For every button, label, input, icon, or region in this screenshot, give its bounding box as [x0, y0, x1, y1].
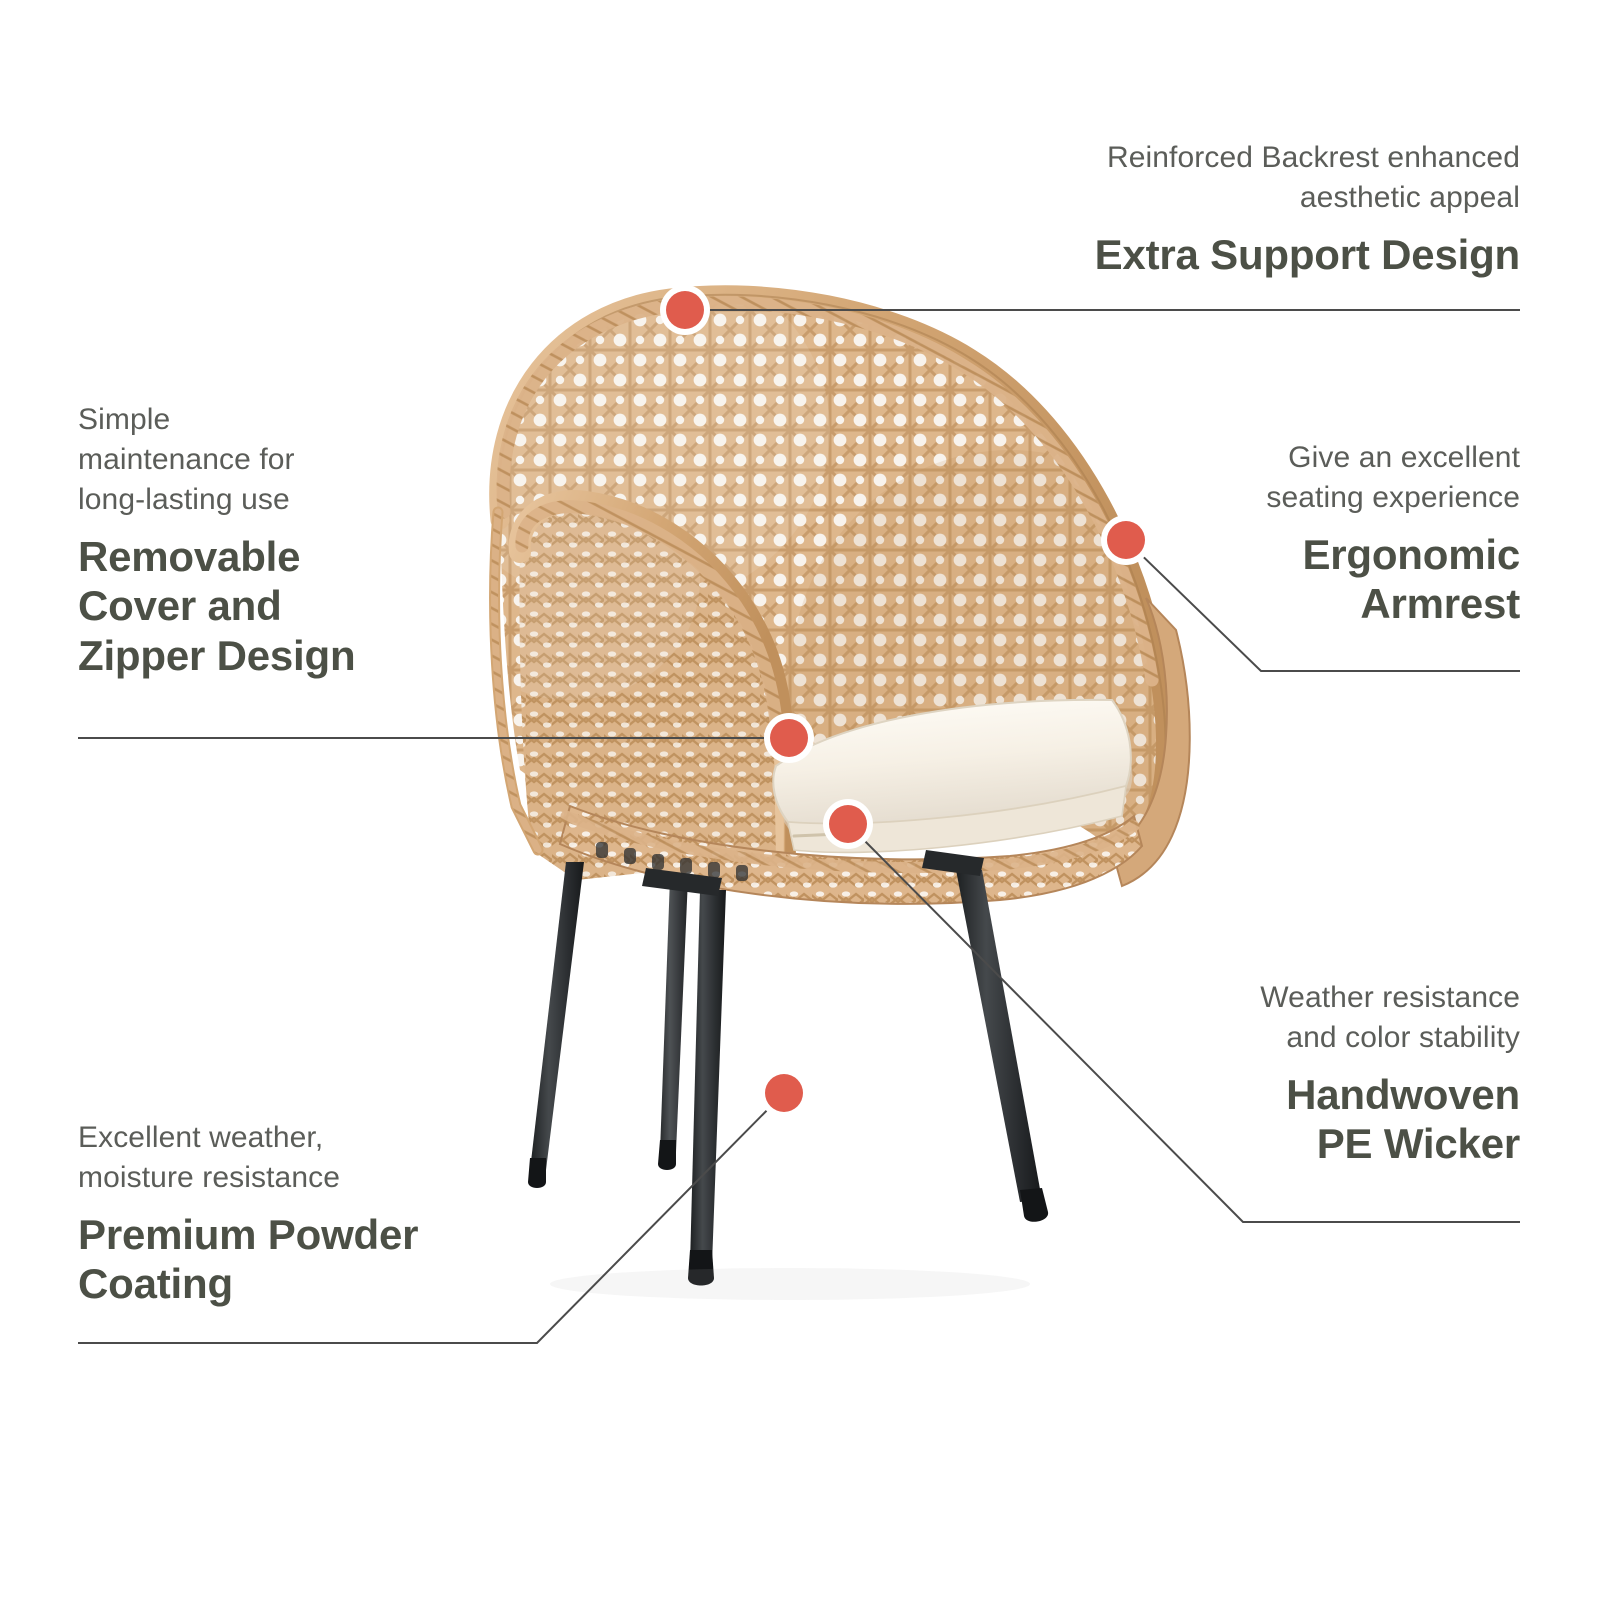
callout-handwoven-pe-wicker: Weather resistance and color stability H…: [1100, 978, 1520, 1169]
callout-premium-powder-coating: Excellent weather, moisture resistance P…: [78, 1118, 598, 1309]
infographic-canvas: Reinforced Backrest enhanced aesthetic a…: [0, 0, 1600, 1600]
chair-legs: [528, 850, 1048, 1286]
callout-subtitle: Give an excellent seating experience: [1100, 438, 1520, 518]
callout-heading: Handwoven PE Wicker: [1100, 1070, 1520, 1169]
callout-subtitle: Reinforced Backrest enhanced aesthetic a…: [920, 138, 1520, 218]
callout-extra-support-design: Reinforced Backrest enhanced aesthetic a…: [920, 138, 1520, 279]
chair-leg-front-left: [690, 890, 726, 1264]
callout-heading: Ergonomic Armrest: [1100, 530, 1520, 629]
callout-subtitle: Simple maintenance for long-lasting use: [78, 400, 498, 520]
callout-ergonomic-armrest: Give an excellent seating experience Erg…: [1100, 438, 1520, 629]
callout-heading: Premium Powder Coating: [78, 1210, 598, 1309]
callout-heading: Extra Support Design: [920, 230, 1520, 280]
callout-heading: Removable Cover and Zipper Design: [78, 532, 498, 681]
callout-subtitle: Weather resistance and color stability: [1100, 978, 1520, 1058]
callout-subtitle: Excellent weather, moisture resistance: [78, 1118, 598, 1198]
chair-leg-rear-center: [660, 878, 688, 1152]
callout-removable-cover-and-zipper-design: Simple maintenance for long-lasting use …: [78, 400, 498, 680]
chair-leg-front-right: [956, 870, 1042, 1202]
